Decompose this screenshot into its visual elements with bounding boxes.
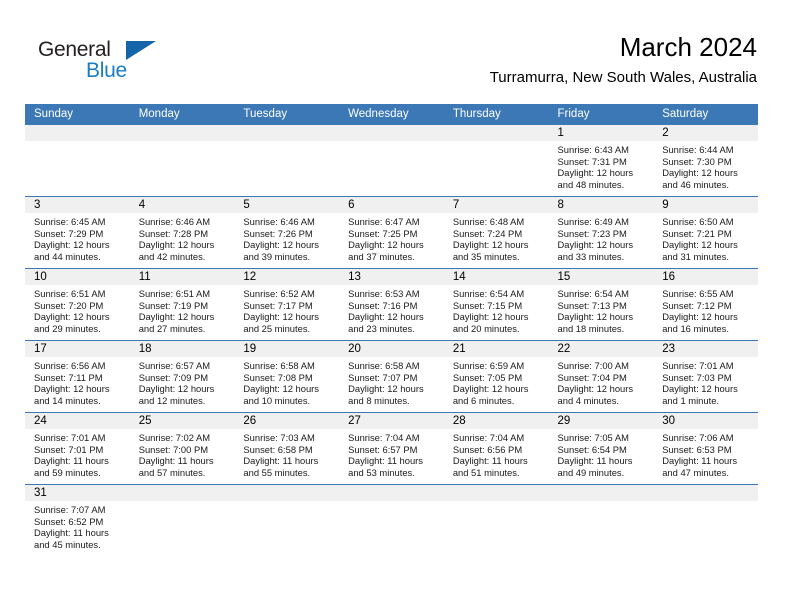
day-details: Sunrise: 6:58 AMSunset: 7:07 PMDaylight:… xyxy=(339,357,444,406)
day-details: Sunrise: 6:58 AMSunset: 7:08 PMDaylight:… xyxy=(234,357,339,406)
calendar-day-cell[interactable]: 6Sunrise: 6:47 AMSunset: 7:25 PMDaylight… xyxy=(339,197,444,268)
day-details: Sunrise: 7:03 AMSunset: 6:58 PMDaylight:… xyxy=(234,429,339,478)
calendar-week-row: 3Sunrise: 6:45 AMSunset: 7:29 PMDaylight… xyxy=(25,196,758,268)
daylight-text-line2: and 31 minutes. xyxy=(662,251,752,263)
sunrise-text: Sunrise: 6:58 AM xyxy=(243,360,333,372)
calendar-day-cell[interactable]: 24Sunrise: 7:01 AMSunset: 7:01 PMDayligh… xyxy=(25,413,130,484)
day-details: Sunrise: 6:52 AMSunset: 7:17 PMDaylight:… xyxy=(234,285,339,334)
calendar-day-cell[interactable]: 29Sunrise: 7:05 AMSunset: 6:54 PMDayligh… xyxy=(549,413,654,484)
daylight-text-line2: and 51 minutes. xyxy=(453,467,543,479)
day-number xyxy=(25,125,130,141)
sunrise-text: Sunrise: 7:04 AM xyxy=(453,432,543,444)
calendar-day-cell[interactable]: 25Sunrise: 7:02 AMSunset: 7:00 PMDayligh… xyxy=(130,413,235,484)
sunset-text: Sunset: 7:31 PM xyxy=(558,156,648,168)
sunrise-text: Sunrise: 7:01 AM xyxy=(34,432,124,444)
day-details: Sunrise: 6:45 AMSunset: 7:29 PMDaylight:… xyxy=(25,213,130,262)
calendar-day-cell[interactable]: 10Sunrise: 6:51 AMSunset: 7:20 PMDayligh… xyxy=(25,269,130,340)
day-details: Sunrise: 6:57 AMSunset: 7:09 PMDaylight:… xyxy=(130,357,235,406)
calendar-day-cell[interactable]: 2Sunrise: 6:44 AMSunset: 7:30 PMDaylight… xyxy=(653,125,758,196)
daylight-text-line2: and 23 minutes. xyxy=(348,323,438,335)
calendar-page: General Blue March 2024 Turramurra, New … xyxy=(0,0,792,612)
day-details: Sunrise: 6:51 AMSunset: 7:20 PMDaylight:… xyxy=(25,285,130,334)
daylight-text-line1: Daylight: 12 hours xyxy=(662,383,752,395)
calendar-day-cell-empty xyxy=(549,485,654,561)
day-number xyxy=(130,485,235,501)
calendar-day-cell[interactable]: 30Sunrise: 7:06 AMSunset: 6:53 PMDayligh… xyxy=(653,413,758,484)
sunset-text: Sunset: 7:08 PM xyxy=(243,372,333,384)
calendar-week-row: 1Sunrise: 6:43 AMSunset: 7:31 PMDaylight… xyxy=(25,125,758,196)
daylight-text-line2: and 18 minutes. xyxy=(558,323,648,335)
daylight-text-line2: and 47 minutes. xyxy=(662,467,752,479)
calendar-week-row: 31Sunrise: 7:07 AMSunset: 6:52 PMDayligh… xyxy=(25,484,758,561)
calendar-day-cell[interactable]: 17Sunrise: 6:56 AMSunset: 7:11 PMDayligh… xyxy=(25,341,130,412)
sunrise-text: Sunrise: 7:03 AM xyxy=(243,432,333,444)
daylight-text-line2: and 12 minutes. xyxy=(139,395,229,407)
daylight-text-line1: Daylight: 12 hours xyxy=(34,311,124,323)
page-title: March 2024 xyxy=(490,32,757,62)
sunrise-text: Sunrise: 6:52 AM xyxy=(243,288,333,300)
calendar-day-cell-empty xyxy=(130,125,235,196)
day-details: Sunrise: 7:07 AMSunset: 6:52 PMDaylight:… xyxy=(25,501,130,550)
daylight-text-line1: Daylight: 12 hours xyxy=(662,311,752,323)
sunset-text: Sunset: 7:07 PM xyxy=(348,372,438,384)
daylight-text-line2: and 33 minutes. xyxy=(558,251,648,263)
calendar-day-cell[interactable]: 11Sunrise: 6:51 AMSunset: 7:19 PMDayligh… xyxy=(130,269,235,340)
daylight-text-line2: and 57 minutes. xyxy=(139,467,229,479)
sunset-text: Sunset: 7:26 PM xyxy=(243,228,333,240)
sunrise-text: Sunrise: 6:53 AM xyxy=(348,288,438,300)
calendar-day-cell[interactable]: 14Sunrise: 6:54 AMSunset: 7:15 PMDayligh… xyxy=(444,269,549,340)
calendar-day-cell[interactable]: 21Sunrise: 6:59 AMSunset: 7:05 PMDayligh… xyxy=(444,341,549,412)
page-subtitle: Turramurra, New South Wales, Australia xyxy=(490,68,757,88)
calendar-day-cell[interactable]: 26Sunrise: 7:03 AMSunset: 6:58 PMDayligh… xyxy=(234,413,339,484)
daylight-text-line1: Daylight: 12 hours xyxy=(453,239,543,251)
calendar-day-cell[interactable]: 4Sunrise: 6:46 AMSunset: 7:28 PMDaylight… xyxy=(130,197,235,268)
sunrise-text: Sunrise: 7:01 AM xyxy=(662,360,752,372)
day-details: Sunrise: 6:55 AMSunset: 7:12 PMDaylight:… xyxy=(653,285,758,334)
sunset-text: Sunset: 6:52 PM xyxy=(34,516,124,528)
calendar-day-cell[interactable]: 18Sunrise: 6:57 AMSunset: 7:09 PMDayligh… xyxy=(130,341,235,412)
day-number xyxy=(339,125,444,141)
daylight-text-line1: Daylight: 11 hours xyxy=(139,455,229,467)
weekday-header-monday: Monday xyxy=(130,104,235,125)
day-number: 21 xyxy=(444,341,549,357)
day-number xyxy=(549,485,654,501)
logo-triangle-icon xyxy=(126,41,156,60)
day-number: 23 xyxy=(653,341,758,357)
day-number xyxy=(339,485,444,501)
daylight-text-line1: Daylight: 12 hours xyxy=(558,311,648,323)
day-number: 29 xyxy=(549,413,654,429)
day-number: 18 xyxy=(130,341,235,357)
day-number xyxy=(234,485,339,501)
day-details: Sunrise: 7:06 AMSunset: 6:53 PMDaylight:… xyxy=(653,429,758,478)
calendar-week-row: 17Sunrise: 6:56 AMSunset: 7:11 PMDayligh… xyxy=(25,340,758,412)
day-details: Sunrise: 6:54 AMSunset: 7:15 PMDaylight:… xyxy=(444,285,549,334)
sunrise-text: Sunrise: 7:05 AM xyxy=(558,432,648,444)
day-number: 17 xyxy=(25,341,130,357)
sunrise-text: Sunrise: 6:56 AM xyxy=(34,360,124,372)
sunrise-text: Sunrise: 6:50 AM xyxy=(662,216,752,228)
sunset-text: Sunset: 6:58 PM xyxy=(243,444,333,456)
day-details: Sunrise: 6:44 AMSunset: 7:30 PMDaylight:… xyxy=(653,141,758,190)
day-details: Sunrise: 7:00 AMSunset: 7:04 PMDaylight:… xyxy=(549,357,654,406)
calendar-day-cell-empty xyxy=(234,485,339,561)
calendar-day-cell[interactable]: 12Sunrise: 6:52 AMSunset: 7:17 PMDayligh… xyxy=(234,269,339,340)
sunrise-text: Sunrise: 6:49 AM xyxy=(558,216,648,228)
daylight-text-line1: Daylight: 12 hours xyxy=(453,383,543,395)
daylight-text-line2: and 29 minutes. xyxy=(34,323,124,335)
daylight-text-line1: Daylight: 12 hours xyxy=(662,239,752,251)
calendar-day-cell-empty xyxy=(339,125,444,196)
calendar-day-cell[interactable]: 22Sunrise: 7:00 AMSunset: 7:04 PMDayligh… xyxy=(549,341,654,412)
calendar-day-cell[interactable]: 5Sunrise: 6:46 AMSunset: 7:26 PMDaylight… xyxy=(234,197,339,268)
calendar-day-cell[interactable]: 31Sunrise: 7:07 AMSunset: 6:52 PMDayligh… xyxy=(25,485,130,561)
sunset-text: Sunset: 7:13 PM xyxy=(558,300,648,312)
sunset-text: Sunset: 6:53 PM xyxy=(662,444,752,456)
sunrise-text: Sunrise: 6:46 AM xyxy=(243,216,333,228)
daylight-text-line2: and 55 minutes. xyxy=(243,467,333,479)
day-details: Sunrise: 7:04 AMSunset: 6:56 PMDaylight:… xyxy=(444,429,549,478)
sunset-text: Sunset: 6:56 PM xyxy=(453,444,543,456)
calendar-day-cell[interactable]: 3Sunrise: 6:45 AMSunset: 7:29 PMDaylight… xyxy=(25,197,130,268)
weekday-header-wednesday: Wednesday xyxy=(339,104,444,125)
sunrise-text: Sunrise: 6:51 AM xyxy=(139,288,229,300)
daylight-text-line1: Daylight: 12 hours xyxy=(243,311,333,323)
sunrise-text: Sunrise: 7:06 AM xyxy=(662,432,752,444)
day-details: Sunrise: 6:48 AMSunset: 7:24 PMDaylight:… xyxy=(444,213,549,262)
day-number: 27 xyxy=(339,413,444,429)
daylight-text-line2: and 48 minutes. xyxy=(558,179,648,191)
calendar-day-cell[interactable]: 28Sunrise: 7:04 AMSunset: 6:56 PMDayligh… xyxy=(444,413,549,484)
day-number: 9 xyxy=(653,197,758,213)
title-block: March 2024 Turramurra, New South Wales, … xyxy=(490,32,757,88)
day-number: 16 xyxy=(653,269,758,285)
sunset-text: Sunset: 7:24 PM xyxy=(453,228,543,240)
day-details: Sunrise: 6:56 AMSunset: 7:11 PMDaylight:… xyxy=(25,357,130,406)
daylight-text-line1: Daylight: 12 hours xyxy=(348,239,438,251)
day-details: Sunrise: 6:54 AMSunset: 7:13 PMDaylight:… xyxy=(549,285,654,334)
calendar-day-cell-empty xyxy=(444,485,549,561)
day-number: 28 xyxy=(444,413,549,429)
sunset-text: Sunset: 7:29 PM xyxy=(34,228,124,240)
day-number: 13 xyxy=(339,269,444,285)
day-number xyxy=(444,125,549,141)
day-number xyxy=(234,125,339,141)
day-number: 3 xyxy=(25,197,130,213)
day-details: Sunrise: 6:46 AMSunset: 7:26 PMDaylight:… xyxy=(234,213,339,262)
daylight-text-line2: and 4 minutes. xyxy=(558,395,648,407)
calendar-day-cell[interactable]: 27Sunrise: 7:04 AMSunset: 6:57 PMDayligh… xyxy=(339,413,444,484)
daylight-text-line1: Daylight: 12 hours xyxy=(348,383,438,395)
calendar-day-cell[interactable]: 19Sunrise: 6:58 AMSunset: 7:08 PMDayligh… xyxy=(234,341,339,412)
daylight-text-line1: Daylight: 12 hours xyxy=(139,383,229,395)
day-number: 8 xyxy=(549,197,654,213)
daylight-text-line1: Daylight: 11 hours xyxy=(348,455,438,467)
day-details: Sunrise: 6:49 AMSunset: 7:23 PMDaylight:… xyxy=(549,213,654,262)
daylight-text-line2: and 37 minutes. xyxy=(348,251,438,263)
day-details: Sunrise: 6:51 AMSunset: 7:19 PMDaylight:… xyxy=(130,285,235,334)
day-number: 30 xyxy=(653,413,758,429)
calendar-day-cell[interactable]: 23Sunrise: 7:01 AMSunset: 7:03 PMDayligh… xyxy=(653,341,758,412)
calendar-grid: Sunday Monday Tuesday Wednesday Thursday… xyxy=(25,104,758,561)
day-number: 12 xyxy=(234,269,339,285)
daylight-text-line2: and 27 minutes. xyxy=(139,323,229,335)
daylight-text-line2: and 8 minutes. xyxy=(348,395,438,407)
day-number: 22 xyxy=(549,341,654,357)
day-number: 19 xyxy=(234,341,339,357)
day-number: 24 xyxy=(25,413,130,429)
daylight-text-line1: Daylight: 12 hours xyxy=(558,239,648,251)
daylight-text-line1: Daylight: 12 hours xyxy=(139,239,229,251)
day-details: Sunrise: 6:59 AMSunset: 7:05 PMDaylight:… xyxy=(444,357,549,406)
sunrise-text: Sunrise: 7:07 AM xyxy=(34,504,124,516)
calendar-day-cell-empty xyxy=(234,125,339,196)
day-number: 14 xyxy=(444,269,549,285)
day-number xyxy=(130,125,235,141)
daylight-text-line1: Daylight: 12 hours xyxy=(34,239,124,251)
day-number: 5 xyxy=(234,197,339,213)
sunset-text: Sunset: 6:57 PM xyxy=(348,444,438,456)
day-details: Sunrise: 7:01 AMSunset: 7:03 PMDaylight:… xyxy=(653,357,758,406)
day-details: Sunrise: 6:43 AMSunset: 7:31 PMDaylight:… xyxy=(549,141,654,190)
sunrise-text: Sunrise: 7:00 AM xyxy=(558,360,648,372)
weekday-header-friday: Friday xyxy=(549,104,654,125)
sunrise-text: Sunrise: 6:43 AM xyxy=(558,144,648,156)
daylight-text-line1: Daylight: 11 hours xyxy=(34,527,124,539)
daylight-text-line1: Daylight: 12 hours xyxy=(662,167,752,179)
day-number: 10 xyxy=(25,269,130,285)
calendar-day-cell[interactable]: 9Sunrise: 6:50 AMSunset: 7:21 PMDaylight… xyxy=(653,197,758,268)
weekday-header-thursday: Thursday xyxy=(444,104,549,125)
daylight-text-line1: Daylight: 12 hours xyxy=(453,311,543,323)
sunrise-text: Sunrise: 6:46 AM xyxy=(139,216,229,228)
daylight-text-line2: and 59 minutes. xyxy=(34,467,124,479)
sunrise-text: Sunrise: 6:45 AM xyxy=(34,216,124,228)
day-number: 7 xyxy=(444,197,549,213)
daylight-text-line1: Daylight: 12 hours xyxy=(348,311,438,323)
sunset-text: Sunset: 6:54 PM xyxy=(558,444,648,456)
calendar-day-cell[interactable]: 15Sunrise: 6:54 AMSunset: 7:13 PMDayligh… xyxy=(549,269,654,340)
calendar-weeks: 1Sunrise: 6:43 AMSunset: 7:31 PMDaylight… xyxy=(25,125,758,561)
daylight-text-line2: and 39 minutes. xyxy=(243,251,333,263)
sunrise-text: Sunrise: 6:51 AM xyxy=(34,288,124,300)
day-details: Sunrise: 7:04 AMSunset: 6:57 PMDaylight:… xyxy=(339,429,444,478)
daylight-text-line2: and 6 minutes. xyxy=(453,395,543,407)
sunrise-text: Sunrise: 6:54 AM xyxy=(453,288,543,300)
daylight-text-line2: and 25 minutes. xyxy=(243,323,333,335)
calendar-day-cell-empty xyxy=(25,125,130,196)
calendar-day-cell[interactable]: 8Sunrise: 6:49 AMSunset: 7:23 PMDaylight… xyxy=(549,197,654,268)
day-number: 31 xyxy=(25,485,130,501)
day-number xyxy=(444,485,549,501)
daylight-text-line2: and 1 minute. xyxy=(662,395,752,407)
day-number: 15 xyxy=(549,269,654,285)
sunrise-text: Sunrise: 6:55 AM xyxy=(662,288,752,300)
day-number xyxy=(653,485,758,501)
daylight-text-line1: Daylight: 11 hours xyxy=(243,455,333,467)
weekday-header-row: Sunday Monday Tuesday Wednesday Thursday… xyxy=(25,104,758,125)
sunset-text: Sunset: 7:16 PM xyxy=(348,300,438,312)
day-number: 26 xyxy=(234,413,339,429)
daylight-text-line1: Daylight: 11 hours xyxy=(662,455,752,467)
sunrise-text: Sunrise: 6:44 AM xyxy=(662,144,752,156)
daylight-text-line2: and 42 minutes. xyxy=(139,251,229,263)
calendar-week-row: 10Sunrise: 6:51 AMSunset: 7:20 PMDayligh… xyxy=(25,268,758,340)
calendar-day-cell[interactable]: 1Sunrise: 6:43 AMSunset: 7:31 PMDaylight… xyxy=(549,125,654,196)
sunrise-text: Sunrise: 6:48 AM xyxy=(453,216,543,228)
day-number: 1 xyxy=(549,125,654,141)
calendar-day-cell-empty xyxy=(130,485,235,561)
daylight-text-line2: and 53 minutes. xyxy=(348,467,438,479)
day-details: Sunrise: 6:47 AMSunset: 7:25 PMDaylight:… xyxy=(339,213,444,262)
day-details: Sunrise: 7:02 AMSunset: 7:00 PMDaylight:… xyxy=(130,429,235,478)
daylight-text-line2: and 49 minutes. xyxy=(558,467,648,479)
sunset-text: Sunset: 7:01 PM xyxy=(34,444,124,456)
day-details: Sunrise: 6:50 AMSunset: 7:21 PMDaylight:… xyxy=(653,213,758,262)
day-details: Sunrise: 6:46 AMSunset: 7:28 PMDaylight:… xyxy=(130,213,235,262)
logo-text-blue: Blue xyxy=(86,59,127,83)
sunset-text: Sunset: 7:30 PM xyxy=(662,156,752,168)
weekday-header-tuesday: Tuesday xyxy=(234,104,339,125)
sunrise-text: Sunrise: 7:02 AM xyxy=(139,432,229,444)
daylight-text-line1: Daylight: 11 hours xyxy=(34,455,124,467)
day-number: 11 xyxy=(130,269,235,285)
sunset-text: Sunset: 7:11 PM xyxy=(34,372,124,384)
sunset-text: Sunset: 7:25 PM xyxy=(348,228,438,240)
sunset-text: Sunset: 7:05 PM xyxy=(453,372,543,384)
sunrise-text: Sunrise: 6:59 AM xyxy=(453,360,543,372)
sunset-text: Sunset: 7:17 PM xyxy=(243,300,333,312)
calendar-day-cell[interactable]: 20Sunrise: 6:58 AMSunset: 7:07 PMDayligh… xyxy=(339,341,444,412)
sunrise-text: Sunrise: 6:58 AM xyxy=(348,360,438,372)
sunset-text: Sunset: 7:04 PM xyxy=(558,372,648,384)
day-number: 20 xyxy=(339,341,444,357)
sunset-text: Sunset: 7:12 PM xyxy=(662,300,752,312)
weekday-header-saturday: Saturday xyxy=(653,104,758,125)
sunset-text: Sunset: 7:28 PM xyxy=(139,228,229,240)
daylight-text-line2: and 46 minutes. xyxy=(662,179,752,191)
daylight-text-line2: and 35 minutes. xyxy=(453,251,543,263)
sunrise-text: Sunrise: 6:54 AM xyxy=(558,288,648,300)
daylight-text-line1: Daylight: 11 hours xyxy=(453,455,543,467)
calendar-week-row: 24Sunrise: 7:01 AMSunset: 7:01 PMDayligh… xyxy=(25,412,758,484)
calendar-day-cell-empty xyxy=(444,125,549,196)
daylight-text-line2: and 16 minutes. xyxy=(662,323,752,335)
sunrise-text: Sunrise: 6:47 AM xyxy=(348,216,438,228)
daylight-text-line2: and 14 minutes. xyxy=(34,395,124,407)
daylight-text-line2: and 20 minutes. xyxy=(453,323,543,335)
daylight-text-line1: Daylight: 12 hours xyxy=(243,383,333,395)
daylight-text-line1: Daylight: 12 hours xyxy=(558,383,648,395)
day-number: 6 xyxy=(339,197,444,213)
calendar-day-cell[interactable]: 13Sunrise: 6:53 AMSunset: 7:16 PMDayligh… xyxy=(339,269,444,340)
sunset-text: Sunset: 7:00 PM xyxy=(139,444,229,456)
page-header: General Blue March 2024 Turramurra, New … xyxy=(0,0,792,100)
daylight-text-line2: and 45 minutes. xyxy=(34,539,124,551)
sunrise-text: Sunrise: 6:57 AM xyxy=(139,360,229,372)
day-number: 4 xyxy=(130,197,235,213)
daylight-text-line2: and 44 minutes. xyxy=(34,251,124,263)
sunset-text: Sunset: 7:09 PM xyxy=(139,372,229,384)
day-details: Sunrise: 7:01 AMSunset: 7:01 PMDaylight:… xyxy=(25,429,130,478)
calendar-day-cell[interactable]: 16Sunrise: 6:55 AMSunset: 7:12 PMDayligh… xyxy=(653,269,758,340)
sunset-text: Sunset: 7:23 PM xyxy=(558,228,648,240)
day-details: Sunrise: 7:05 AMSunset: 6:54 PMDaylight:… xyxy=(549,429,654,478)
daylight-text-line1: Daylight: 12 hours xyxy=(34,383,124,395)
calendar-day-cell-empty xyxy=(339,485,444,561)
sunset-text: Sunset: 7:03 PM xyxy=(662,372,752,384)
daylight-text-line1: Daylight: 12 hours xyxy=(558,167,648,179)
sunrise-text: Sunrise: 7:04 AM xyxy=(348,432,438,444)
sunset-text: Sunset: 7:20 PM xyxy=(34,300,124,312)
day-details: Sunrise: 6:53 AMSunset: 7:16 PMDaylight:… xyxy=(339,285,444,334)
day-number: 2 xyxy=(653,125,758,141)
calendar-day-cell-empty xyxy=(653,485,758,561)
general-blue-logo: General Blue xyxy=(38,38,158,86)
sunset-text: Sunset: 7:19 PM xyxy=(139,300,229,312)
sunset-text: Sunset: 7:15 PM xyxy=(453,300,543,312)
sunset-text: Sunset: 7:21 PM xyxy=(662,228,752,240)
daylight-text-line2: and 10 minutes. xyxy=(243,395,333,407)
weekday-header-sunday: Sunday xyxy=(25,104,130,125)
daylight-text-line1: Daylight: 11 hours xyxy=(558,455,648,467)
calendar-day-cell[interactable]: 7Sunrise: 6:48 AMSunset: 7:24 PMDaylight… xyxy=(444,197,549,268)
day-number: 25 xyxy=(130,413,235,429)
daylight-text-line1: Daylight: 12 hours xyxy=(139,311,229,323)
daylight-text-line1: Daylight: 12 hours xyxy=(243,239,333,251)
